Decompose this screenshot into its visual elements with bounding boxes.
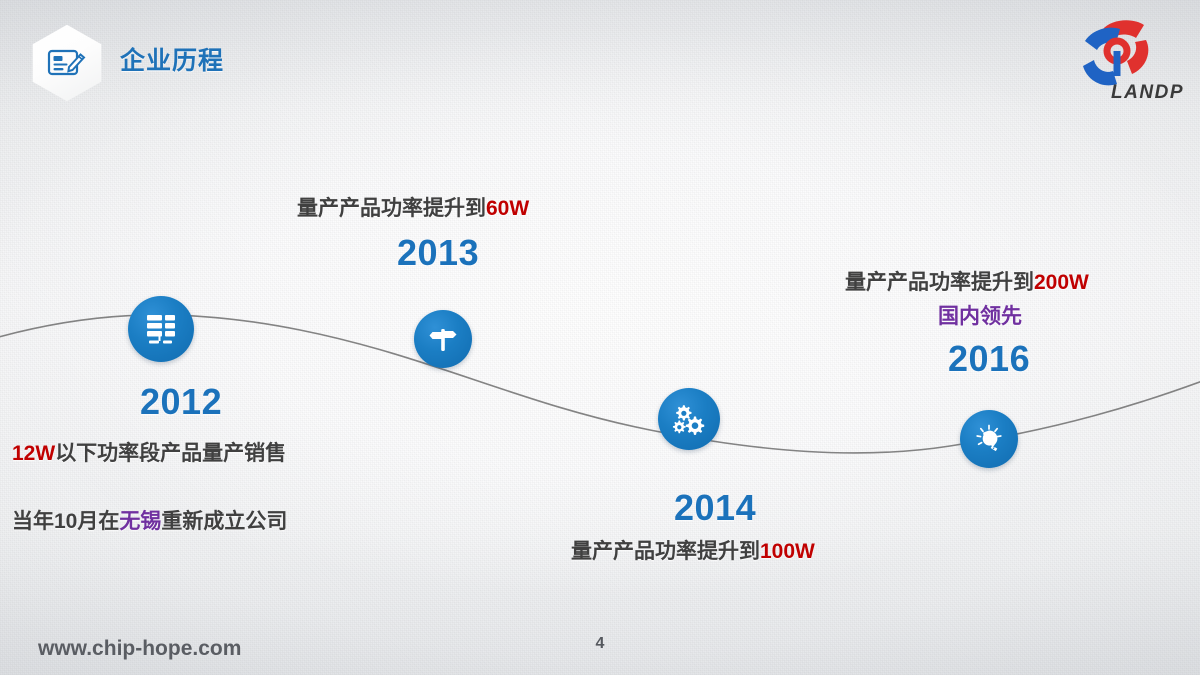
timeline-text-2012-line2: 当年10月在无锡重新成立公司 [12,505,287,535]
timeline-text-2016-a: 量产产品功率提升到 [845,271,1034,294]
timeline-text-2012-line2-c: 重新成立公司 [161,510,287,533]
highlight-200w: 200W [1034,271,1089,294]
timeline-text-2014-line1: 量产产品功率提升到100W [571,535,815,565]
timeline-text-2016-line2: 国内领先 [938,300,1022,330]
server-rack-icon [144,312,178,346]
slide-canvas: 企业历程 LANDP 2012 12W以下功率段产品量 [0,0,1200,675]
highlight-60w: 60W [486,197,529,220]
page-number: 4 [0,635,1200,653]
gears-icon [672,402,706,436]
timeline-node-2013[interactable] [414,310,472,368]
timeline-text-2014-a: 量产产品功率提升到 [571,540,760,563]
timeline-text-2012-line1-rest: 以下功率段产品量产销售 [55,442,286,465]
timeline-node-2014[interactable] [658,388,720,450]
highlight-100w: 100W [760,540,815,563]
timeline-node-2012[interactable] [128,296,194,362]
timeline-text-2013-line1: 量产产品功率提升到60W [297,192,529,222]
highlight-domestic-leading: 国内领先 [938,305,1022,328]
timeline-year-2012: 2012 [140,381,222,423]
lightbulb-icon [973,423,1005,455]
signpost-icon [428,324,458,354]
timeline-year-2016: 2016 [948,338,1030,380]
highlight-wuxi: 无锡 [119,510,161,533]
timeline-text-2013-a: 量产产品功率提升到 [297,197,486,220]
timeline-node-2016[interactable] [960,410,1018,468]
timeline-text-2012-line2-a: 当年10月在 [12,510,119,533]
timeline-year-2013: 2013 [397,232,479,274]
timeline-text-2016-line1: 量产产品功率提升到200W [845,266,1089,296]
timeline-year-2014: 2014 [674,487,756,529]
timeline-text-2012-line1: 12W以下功率段产品量产销售 [12,437,286,467]
highlight-12w: 12W [12,442,55,465]
